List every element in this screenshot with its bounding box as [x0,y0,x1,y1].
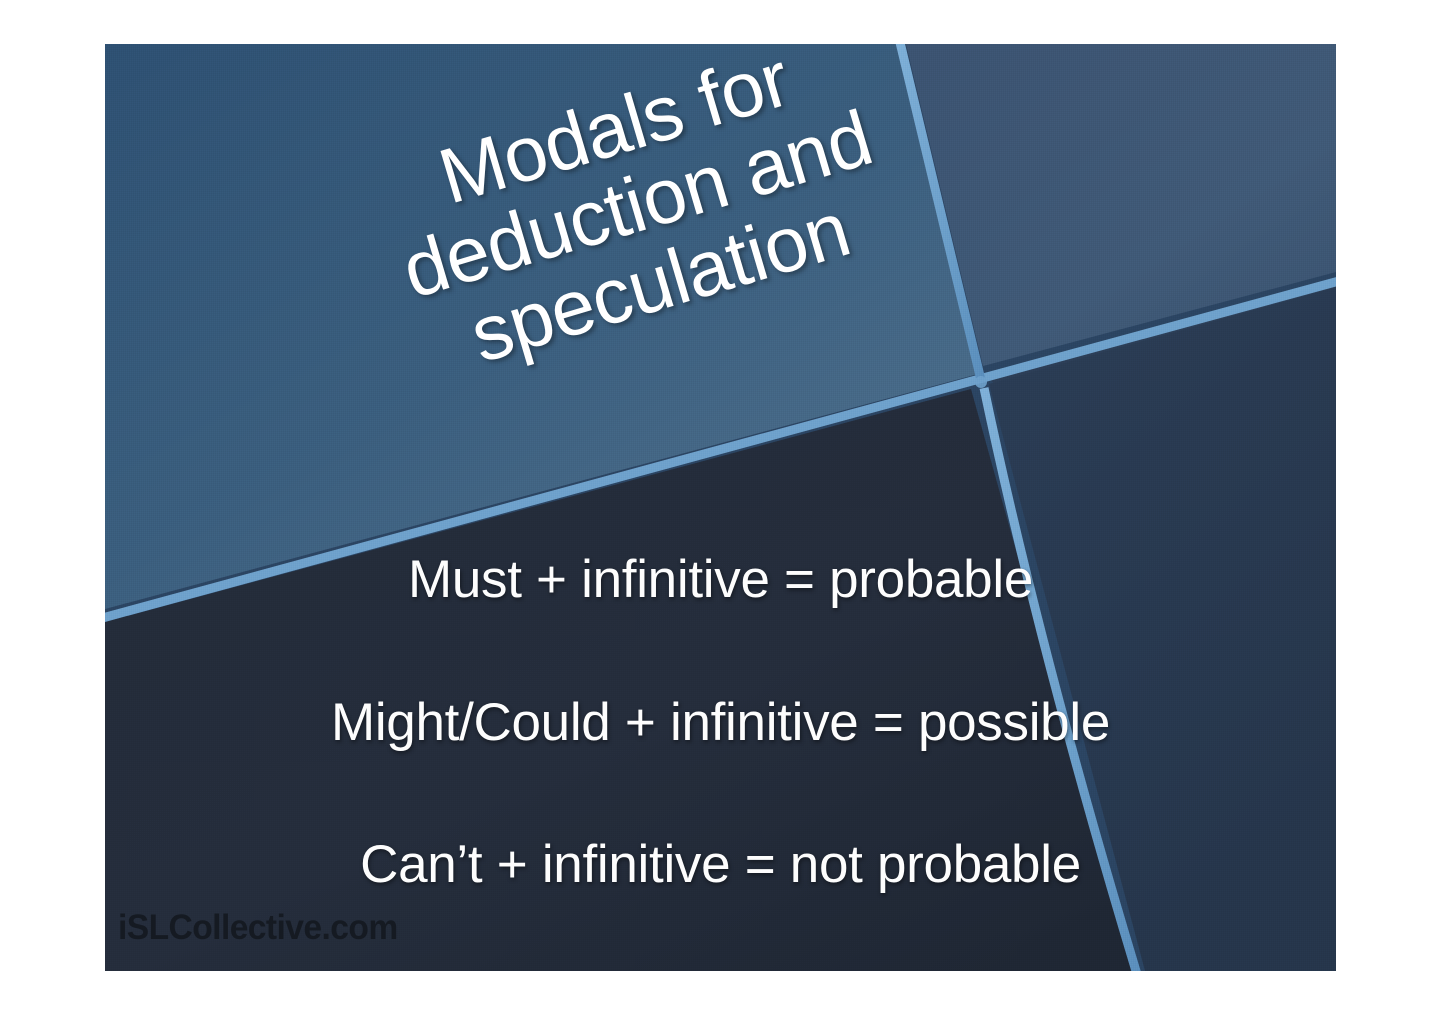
slide-canvas: Modals for deduction and speculation Mus… [105,44,1336,971]
islcollective-watermark: iSLCollective.com [118,908,398,948]
page-root: Modals for deduction and speculation Mus… [0,0,1440,1018]
body-line-must: Must + infinitive = probable [105,549,1336,610]
body-line-might-could: Might/Could + infinitive = possible [105,692,1336,753]
body-line-cant: Can’t + infinitive = not probable [105,834,1336,895]
